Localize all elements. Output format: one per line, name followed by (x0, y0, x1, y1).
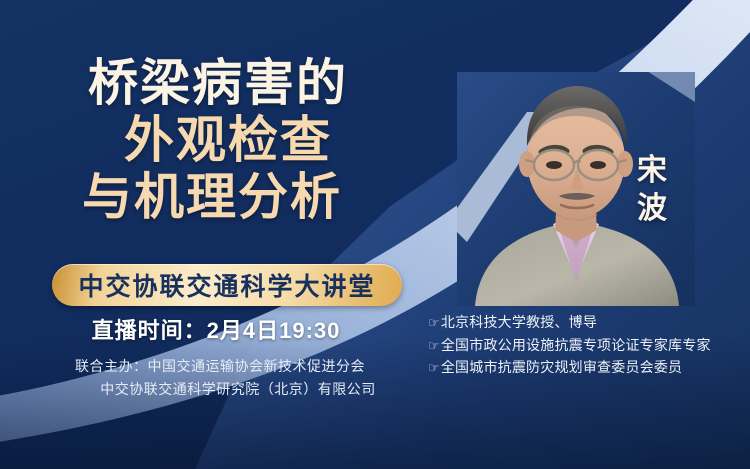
credential-text: 北京科技大学教授、博导 (441, 311, 597, 334)
pointing-hand-icon: ☞ (428, 335, 440, 356)
page-title: 桥梁病害的 外观检查 与机理分析 (0, 58, 430, 223)
title-line-3: 与机理分析 (0, 172, 430, 223)
credential-item: ☞ 全国市政公用设施抗震专项论证专家库专家 (428, 334, 738, 357)
organizer-line-2: 中交协联交通科学研究院（北京）有限公司 (0, 378, 440, 401)
organizers: 联合主办：中国交通运输协会新技术促进分会 中交协联交通科学研究院（北京）有限公司 (0, 355, 440, 401)
credential-item: ☞ 全国城市抗震防灾规划审查委员会委员 (428, 356, 738, 379)
live-time: 直播时间：2月4日19:30 (0, 313, 432, 345)
credential-text: 全国城市抗震防灾规划审查委员会委员 (441, 356, 682, 379)
pointing-hand-icon: ☞ (428, 357, 440, 378)
speaker-name-char-2: 波 (630, 190, 674, 228)
credential-item: ☞ 北京科技大学教授、博导 (428, 311, 738, 334)
credential-text: 全国市政公用设施抗震专项论证专家库专家 (441, 334, 711, 357)
title-line-1: 桥梁病害的 (6, 58, 430, 109)
speaker-credentials: ☞ 北京科技大学教授、博导 ☞ 全国市政公用设施抗震专项论证专家库专家 ☞ 全国… (428, 311, 738, 379)
title-line-2: 外观检查 (26, 115, 430, 166)
speaker-name: 宋 波 (630, 152, 674, 229)
organizer-line-1: 联合主办：中国交通运输协会新技术促进分会 (0, 355, 440, 378)
series-badge: 中交协联交通科学大讲堂 (52, 264, 402, 306)
speaker-name-char-1: 宋 (630, 152, 674, 190)
series-badge-label: 中交协联交通科学大讲堂 (78, 267, 375, 303)
webinar-poster: 宋 波 桥梁病害的 外观检查 与机理分析 中交协联交通科学大讲堂 直播时间：2月… (0, 0, 750, 469)
pointing-hand-icon: ☞ (428, 312, 440, 333)
